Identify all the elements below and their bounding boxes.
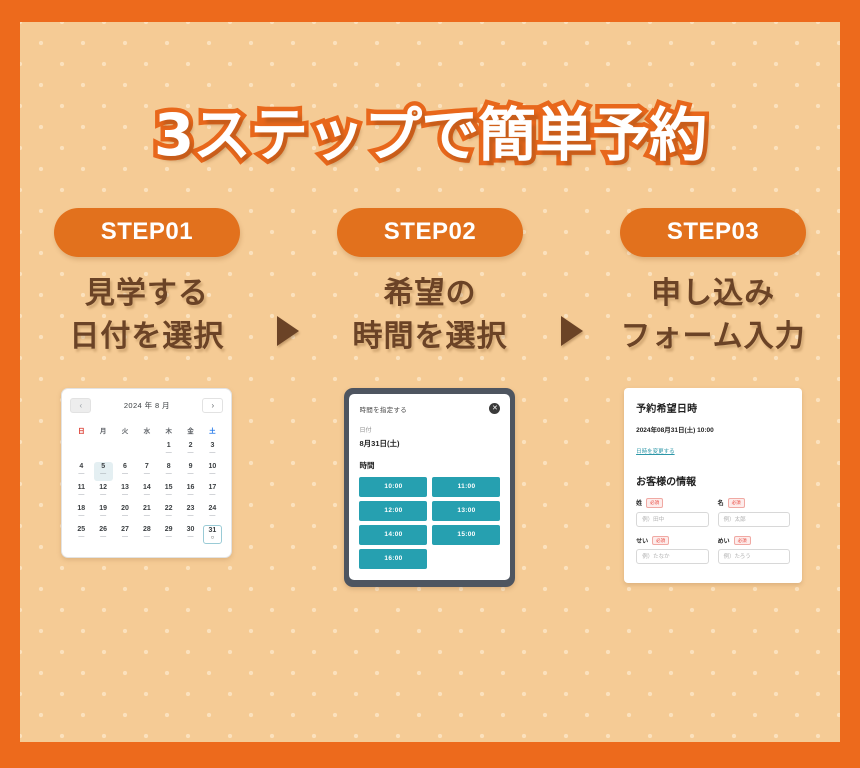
calendar-day-mark: —: [94, 534, 113, 540]
calendar-weekday-火: 火: [114, 422, 136, 440]
calendar-body: 1—2—3—4—5—6—7—8—9—10—11—12—13—14—15—16—1…: [70, 440, 223, 545]
calendar-day-mark: —: [203, 471, 222, 477]
field-label-text: 名: [718, 498, 724, 507]
calendar-day-26[interactable]: 26—: [94, 525, 113, 544]
calendar-day-number: 23: [181, 504, 200, 513]
form-name-row: 姓必須例）田中名必須例）太郎: [636, 498, 790, 526]
step-title-1: 見学する 日付を選択: [69, 273, 224, 358]
input-せい[interactable]: 例）たなか: [636, 549, 709, 564]
calendar-day-mark: —: [94, 492, 113, 498]
calendar-day-number: 3: [203, 441, 222, 450]
form-datetime-value: 2024年08月31日(土) 10:00: [636, 424, 790, 434]
calendar-weekday-木: 木: [158, 422, 180, 440]
step-title-2-line1: 希望の: [352, 273, 507, 316]
required-badge: 必須: [734, 536, 751, 545]
calendar-day-18[interactable]: 18—: [72, 504, 91, 523]
calendar-empty-cell: [70, 440, 92, 461]
field-label-row: せい必須: [636, 536, 709, 545]
calendar-day-number: 13: [116, 483, 135, 492]
step-column-1: STEP01 見学する 日付を選択 ‹ 2024 年 8 月 › 日月火水木金土: [28, 208, 266, 558]
calendar-day-25[interactable]: 25—: [72, 525, 91, 544]
calendar-day-30[interactable]: 30—: [181, 525, 200, 544]
field-label-row: 姓必須: [636, 498, 709, 507]
calendar-day-number: 10: [203, 462, 222, 471]
input-名[interactable]: 例）太郎: [718, 512, 791, 527]
calendar-day-mark: —: [94, 513, 113, 519]
calendar-day-mark: —: [181, 534, 200, 540]
calendar-day-number: 29: [159, 525, 178, 534]
calendar-day-mark: ○: [204, 535, 221, 541]
form-field-名: 名必須例）太郎: [718, 498, 791, 526]
calendar-day-number: 9: [181, 462, 200, 471]
calendar-day-4[interactable]: 4—: [72, 462, 91, 481]
calendar-day-31[interactable]: 31○: [203, 525, 222, 544]
calendar-day-number: 16: [181, 483, 200, 492]
calendar-header: ‹ 2024 年 8 月 ›: [70, 398, 223, 413]
calendar-week-row: 18—19—20—21—22—23—24—: [70, 503, 223, 524]
calendar-day-28[interactable]: 28—: [137, 525, 156, 544]
calendar-day-12[interactable]: 12—: [94, 483, 113, 502]
calendar-week-row: 1—2—3—: [70, 440, 223, 461]
time-picker-time-label: 時間: [359, 460, 500, 471]
form-customer-heading: お客様の情報: [636, 473, 790, 488]
triangle-right-icon: [277, 316, 299, 346]
calendar-day-number: 26: [94, 525, 113, 534]
calendar-day-mark: —: [116, 492, 135, 498]
step-badge-1: STEP01: [54, 208, 240, 257]
calendar-day-15[interactable]: 15—: [159, 483, 178, 502]
step-title-2: 希望の 時間を選択: [352, 273, 507, 358]
calendar-day-mark: —: [181, 513, 200, 519]
calendar-day-number: 27: [116, 525, 135, 534]
calendar-day-mark: —: [137, 513, 156, 519]
calendar-empty-cell: [136, 440, 158, 461]
field-label-row: 名必須: [718, 498, 791, 507]
close-icon[interactable]: ✕: [489, 403, 500, 414]
calendar-week-row: 11—12—13—14—15—16—17—: [70, 482, 223, 503]
calendar-day-number: 7: [137, 462, 156, 471]
required-badge: 必須: [652, 536, 669, 545]
calendar-day-27[interactable]: 27—: [116, 525, 135, 544]
step-column-3: STEP03 申し込み フォーム入力 予約希望日時 2024年08月31日(土)…: [594, 208, 832, 583]
calendar-day-mark: —: [203, 450, 222, 456]
calendar-day-13[interactable]: 13—: [116, 483, 135, 502]
calendar-day-23[interactable]: 23—: [181, 504, 200, 523]
calendar-day-mark: —: [137, 492, 156, 498]
calendar-weekday-row: 日月火水木金土: [70, 422, 223, 440]
step-title-1-line2: 日付を選択: [69, 316, 224, 359]
calendar-day-mark: —: [116, 534, 135, 540]
step-title-3-line1: 申し込み: [621, 273, 806, 316]
calendar-day-19[interactable]: 19—: [94, 504, 113, 523]
steps-row: STEP01 見学する 日付を選択 ‹ 2024 年 8 月 › 日月火水木金土: [20, 208, 840, 587]
step-screenshot-1: ‹ 2024 年 8 月 › 日月火水木金土 1—2—3—4—5—6—7—8—9…: [28, 388, 266, 558]
calendar-day-mark: —: [181, 471, 200, 477]
calendar-grid: 日月火水木金土 1—2—3—4—5—6—7—8—9—10—11—12—13—14…: [70, 422, 223, 545]
time-slot-1100[interactable]: 11:00: [432, 477, 500, 497]
step-screenshot-2: 時間を指定する ✕ 日付 8月31日(土) 時間 10:0011:0012:00…: [311, 388, 549, 587]
step-title-1-line1: 見学する: [69, 273, 224, 316]
calendar-day-17[interactable]: 17—: [203, 483, 222, 502]
outer-orange-frame: 3ステップで簡単予約 STEP01 見学する 日付を選択 ‹ 2024 年 8 …: [0, 0, 860, 768]
calendar-day-16[interactable]: 16—: [181, 483, 200, 502]
calendar-day-number: 17: [203, 483, 222, 492]
calendar-day-2[interactable]: 2—: [181, 441, 200, 460]
step-screenshot-3: 予約希望日時 2024年08月31日(土) 10:00 日時を変更する お客様の…: [594, 388, 832, 583]
calendar-weekday-日: 日: [70, 422, 92, 440]
step-title-3-line2: フォーム入力: [621, 316, 806, 359]
calendar-day-number: 18: [72, 504, 91, 513]
page-title: 3ステップで簡単予約: [154, 106, 706, 164]
calendar-day-number: 1: [159, 441, 178, 450]
step-column-2: STEP02 希望の 時間を選択 時間を指定する ✕ 日付 8月31日(土): [311, 208, 549, 587]
required-badge: 必須: [646, 498, 663, 507]
calendar-next-icon[interactable]: ›: [202, 398, 223, 413]
calendar-day-number: 28: [137, 525, 156, 534]
calendar-month-label: 2024 年 8 月: [124, 400, 170, 411]
calendar-day-mark: —: [159, 492, 178, 498]
field-label-text: めい: [718, 536, 730, 545]
calendar-day-21[interactable]: 21—: [137, 504, 156, 523]
calendar-day-29[interactable]: 29—: [159, 525, 178, 544]
calendar-day-number: 4: [72, 462, 91, 471]
calendar-day-mark: —: [116, 471, 135, 477]
time-slot-grid: 10:0011:0012:0013:0014:0015:0016:00: [359, 477, 500, 569]
calendar-day-1[interactable]: 1—: [159, 441, 178, 460]
form-kana-row: せい必須例）たなかめい必須例）たろう: [636, 536, 790, 564]
calendar-day-mark: —: [137, 471, 156, 477]
calendar-day-number: 31: [204, 526, 221, 535]
calendar-day-number: 5: [94, 462, 113, 471]
calendar-day-11[interactable]: 11—: [72, 483, 91, 502]
calendar-day-number: 14: [137, 483, 156, 492]
calendar-day-number: 19: [94, 504, 113, 513]
calendar-day-mark: —: [94, 471, 113, 477]
calendar-card: ‹ 2024 年 8 月 › 日月火水木金土 1—2—3—4—5—6—7—8—9…: [61, 388, 232, 558]
calendar-week-row: 4—5—6—7—8—9—10—: [70, 461, 223, 482]
calendar-day-mark: —: [159, 450, 178, 456]
calendar-day-number: 22: [159, 504, 178, 513]
arrow-separator-2: [549, 208, 594, 346]
required-badge: 必須: [728, 498, 745, 507]
calendar-day-10[interactable]: 10—: [203, 462, 222, 481]
calendar-weekday-水: 水: [136, 422, 158, 440]
step-title-3: 申し込み フォーム入力: [621, 273, 806, 358]
calendar-day-number: 6: [116, 462, 135, 471]
calendar-day-mark: —: [159, 513, 178, 519]
calendar-day-8[interactable]: 8—: [159, 462, 178, 481]
calendar-day-7[interactable]: 7—: [137, 462, 156, 481]
field-label-text: 姓: [636, 498, 642, 507]
triangle-right-icon: [561, 316, 583, 346]
step-badge-2: STEP02: [337, 208, 523, 257]
time-slot-1300[interactable]: 13:00: [432, 501, 500, 521]
calendar-day-number: 15: [159, 483, 178, 492]
calendar-day-mark: —: [72, 492, 91, 498]
time-slot-1600[interactable]: 16:00: [359, 549, 427, 569]
time-picker-date-value: 8月31日(土): [359, 438, 500, 449]
calendar-day-24[interactable]: 24—: [203, 504, 222, 523]
form-field-せい: せい必須例）たなか: [636, 536, 709, 564]
calendar-day-3[interactable]: 3—: [203, 441, 222, 460]
calendar-day-9[interactable]: 9—: [181, 462, 200, 481]
calendar-day-number: 30: [181, 525, 200, 534]
calendar-day-mark: —: [181, 492, 200, 498]
calendar-day-number: 12: [94, 483, 113, 492]
calendar-day-mark: —: [203, 492, 222, 498]
calendar-empty-cell: [114, 440, 136, 461]
time-slot-1500[interactable]: 15:00: [432, 525, 500, 545]
calendar-day-6[interactable]: 6—: [116, 462, 135, 481]
headline-container: 3ステップで簡単予約: [20, 22, 840, 164]
calendar-day-number: 11: [72, 483, 91, 492]
step-title-2-line2: 時間を選択: [352, 316, 507, 359]
calendar-day-number: 20: [116, 504, 135, 513]
field-label-row: めい必須: [718, 536, 791, 545]
form-field-めい: めい必須例）たろう: [718, 536, 791, 564]
calendar-prev-icon[interactable]: ‹: [70, 398, 91, 413]
reservation-form-card: 予約希望日時 2024年08月31日(土) 10:00 日時を変更する お客様の…: [624, 388, 802, 583]
calendar-weekday-土: 土: [201, 422, 223, 440]
content-panel: 3ステップで簡単予約 STEP01 見学する 日付を選択 ‹ 2024 年 8 …: [20, 22, 840, 742]
calendar-day-number: 2: [181, 441, 200, 450]
calendar-day-number: 21: [137, 504, 156, 513]
input-めい[interactable]: 例）たろう: [718, 549, 791, 564]
time-slot-1000[interactable]: 10:00: [359, 477, 427, 497]
field-label-text: せい: [636, 536, 648, 545]
time-picker-card: 時間を指定する ✕ 日付 8月31日(土) 時間 10:0011:0012:00…: [344, 388, 515, 587]
calendar-day-mark: —: [203, 513, 222, 519]
calendar-day-20[interactable]: 20—: [116, 504, 135, 523]
calendar-day-number: 25: [72, 525, 91, 534]
calendar-day-mark: —: [137, 534, 156, 540]
calendar-day-22[interactable]: 22—: [159, 504, 178, 523]
calendar-day-number: 8: [159, 462, 178, 471]
calendar-day-5[interactable]: 5—: [94, 462, 113, 481]
time-slot-1400[interactable]: 14:00: [359, 525, 427, 545]
calendar-day-mark: —: [181, 450, 200, 456]
calendar-day-mark: —: [72, 513, 91, 519]
calendar-weekday-月: 月: [92, 422, 114, 440]
calendar-day-number: 24: [203, 504, 222, 513]
step-badge-3: STEP03: [620, 208, 806, 257]
time-picker-title: 時間を指定する: [359, 404, 407, 414]
calendar-weekday-金: 金: [180, 422, 202, 440]
calendar-week-row: 25—26—27—28—29—30—31○: [70, 524, 223, 545]
calendar-day-mark: —: [159, 471, 178, 477]
time-picker-date-label: 日付: [359, 425, 500, 434]
time-picker-body: 時間を指定する ✕ 日付 8月31日(土) 時間 10:0011:0012:00…: [349, 394, 510, 580]
calendar-day-mark: —: [116, 513, 135, 519]
calendar-day-mark: —: [72, 534, 91, 540]
arrow-separator-1: [266, 208, 311, 346]
time-picker-header: 時間を指定する ✕: [359, 403, 500, 414]
change-datetime-link[interactable]: 日時を変更する: [636, 447, 675, 455]
calendar-day-14[interactable]: 14—: [137, 483, 156, 502]
input-姓[interactable]: 例）田中: [636, 512, 709, 527]
calendar-day-mark: —: [159, 534, 178, 540]
time-slot-1200[interactable]: 12:00: [359, 501, 427, 521]
form-field-姓: 姓必須例）田中: [636, 498, 709, 526]
calendar-day-mark: —: [72, 471, 91, 477]
form-datetime-heading: 予約希望日時: [636, 400, 790, 415]
calendar-empty-cell: [92, 440, 114, 461]
